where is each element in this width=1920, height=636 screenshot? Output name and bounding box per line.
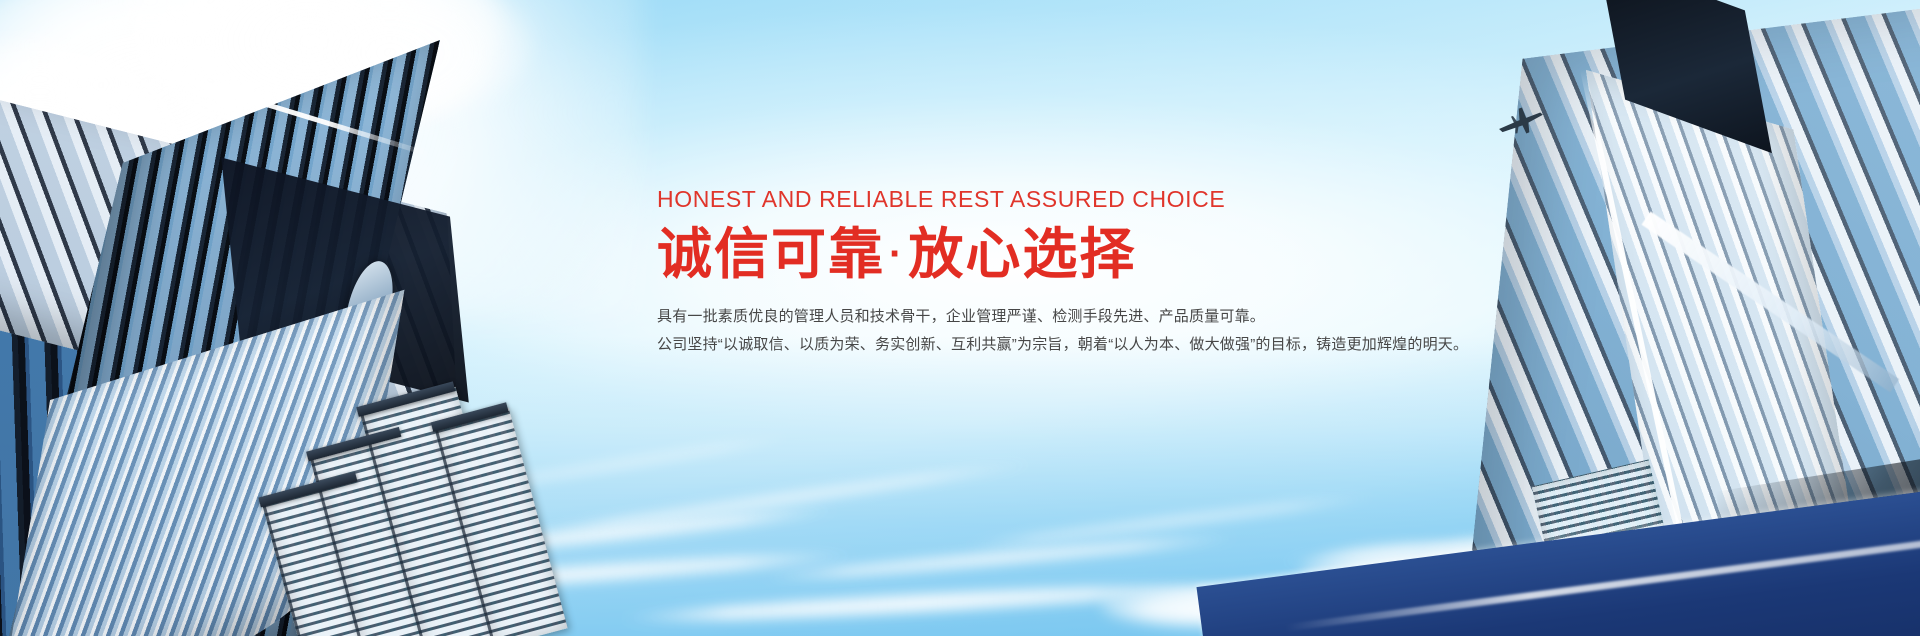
banner-headline: 诚信可靠·放心选择 [657, 226, 1717, 284]
headline-part-right: 放心选择 [908, 223, 1136, 285]
body-line: 公司坚持“以诚取信、以质为荣、务实创新、互利共赢”为宗旨，朝着“以人为本、做大做… [657, 331, 1717, 359]
hero-banner: HONEST AND RELIABLE REST ASSURED CHOICE … [0, 0, 1920, 636]
body-line: 具有一批素质优良的管理人员和技术骨干，企业管理严谨、检测手段先进、产品质量可靠。 [657, 303, 1717, 331]
banner-copy: HONEST AND RELIABLE REST ASSURED CHOICE … [657, 186, 1717, 359]
banner-body-text: 具有一批素质优良的管理人员和技术骨干，企业管理严谨、检测手段先进、产品质量可靠。… [657, 303, 1717, 359]
airplane-icon [1492, 102, 1550, 142]
headline-separator-dot: · [885, 232, 908, 276]
headline-part-left: 诚信可靠 [657, 223, 885, 285]
banner-kicker: HONEST AND RELIABLE REST ASSURED CHOICE [657, 186, 1717, 212]
